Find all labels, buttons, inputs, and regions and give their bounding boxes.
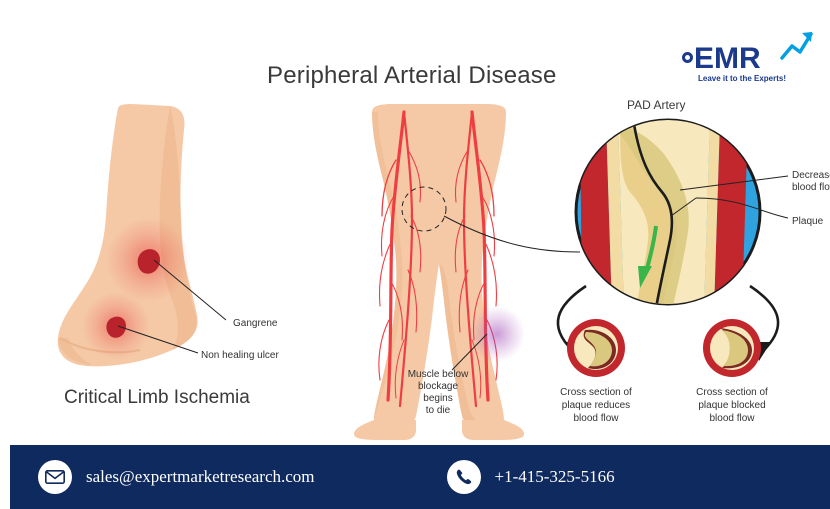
footer-email[interactable]: sales@expertmarketresearch.com (38, 460, 315, 494)
envelope-icon (38, 460, 72, 494)
cross-section-reduced-flow (567, 319, 625, 377)
label-cs1-line2: plaque reduces (548, 399, 644, 412)
label-muscle-death: Muscle below blockage begins to die (403, 369, 473, 417)
label-muscle-death-line1: Muscle below (403, 369, 473, 381)
footer-phone-text: +1-415-325-5166 (495, 467, 615, 487)
muscle-death-glow (469, 306, 525, 362)
label-non-healing-ulcer: Non healing ulcer (201, 350, 279, 362)
label-cross-section-reduced: Cross section of plaque reduces blood fl… (548, 386, 644, 425)
label-muscle-death-line2: blockage begins (403, 381, 473, 405)
label-decreased-blood-flow: Decreased blood flow (792, 170, 830, 194)
magnified-artery (576, 120, 788, 310)
foot-illustration (58, 104, 226, 366)
contact-footer: sales@expertmarketresearch.com +1-415-32… (10, 445, 830, 509)
footer-email-text: sales@expertmarketresearch.com (86, 467, 315, 487)
infographic-page: EMR Leave it to the Experts! Peripheral … (0, 0, 830, 499)
label-decreased-line1: Decreased (792, 170, 830, 182)
label-cs2-line1: Cross section of (684, 386, 780, 399)
label-cross-section-blocked: Cross section of plaque blocked blood fl… (684, 386, 780, 425)
label-cs2-line3: blood flow (684, 412, 780, 425)
footer-phone[interactable]: +1-415-325-5166 (447, 460, 615, 494)
label-plaque: Plaque (792, 216, 823, 228)
phone-icon (447, 460, 481, 494)
cross-section-blocked-flow (703, 319, 761, 377)
label-cs2-line2: plaque blocked (684, 399, 780, 412)
label-cs1-line3: blood flow (548, 412, 644, 425)
label-cs1-line1: Cross section of (548, 386, 644, 399)
label-gangrene: Gangrene (233, 318, 277, 330)
label-decreased-line2: blood flow (792, 182, 830, 194)
diagram-canvas: EMR Leave it to the Experts! Peripheral … (20, 20, 830, 445)
label-muscle-death-line3: to die (403, 405, 473, 417)
